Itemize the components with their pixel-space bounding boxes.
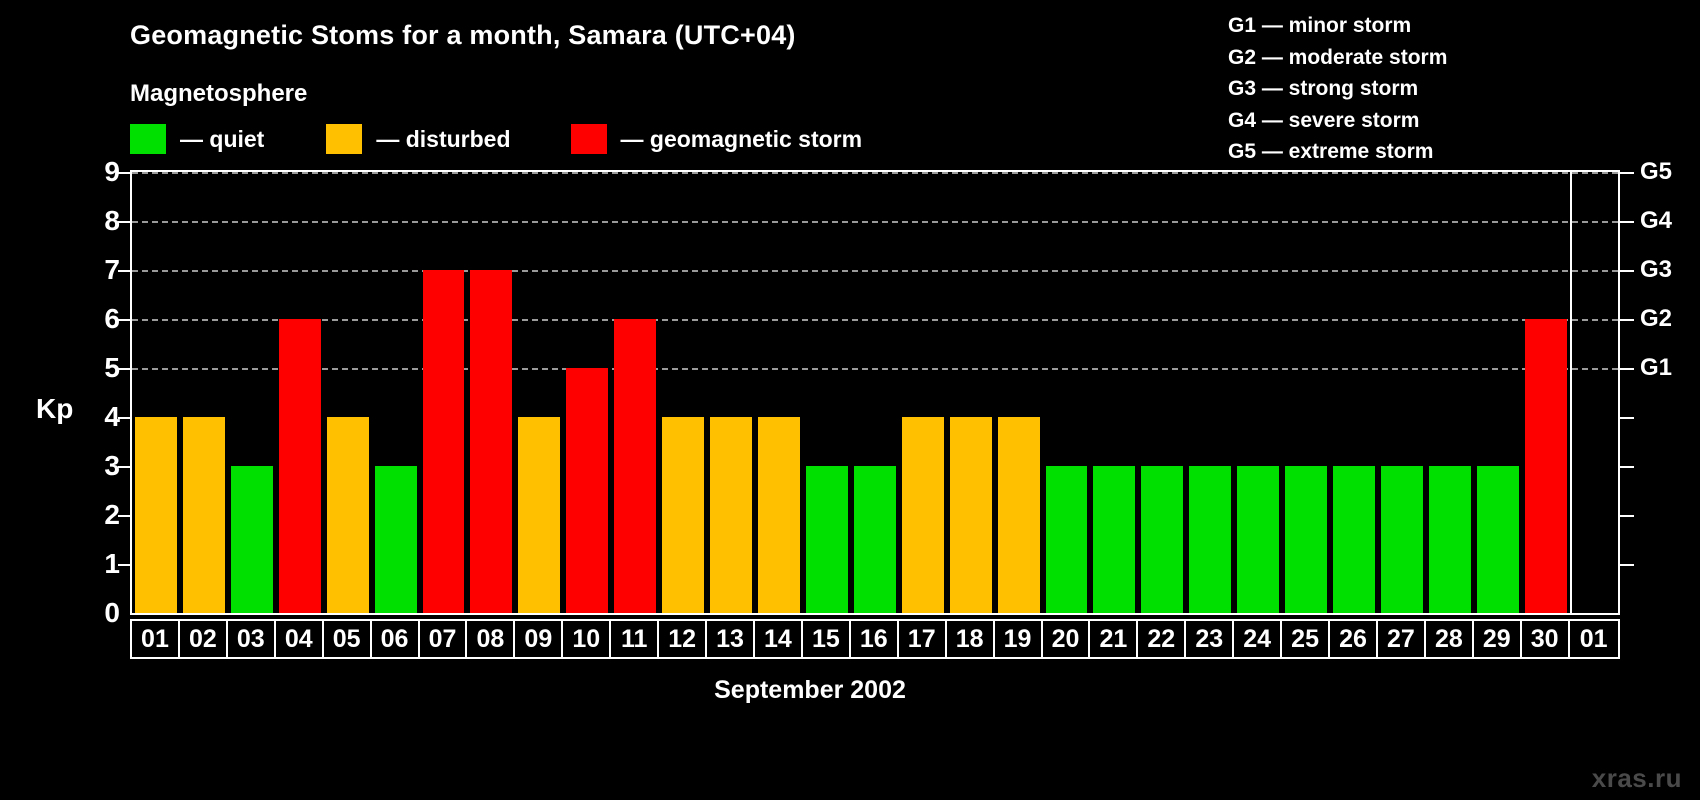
bar-cell-09[interactable]: [515, 172, 563, 613]
bar-cell-20[interactable]: [1043, 172, 1091, 613]
y-tick-label-6: 6: [60, 303, 120, 335]
g-tick-g3: [1620, 270, 1634, 272]
x-axis-day-24[interactable]: 25: [1282, 621, 1330, 657]
g-scale-row-g3: G3 — strong storm: [1228, 73, 1447, 105]
x-axis-day-7[interactable]: 08: [467, 621, 515, 657]
bar-13[interactable]: [710, 417, 752, 613]
bar-cell-06[interactable]: [372, 172, 420, 613]
plot-area: [130, 170, 1620, 615]
bar-cell-19[interactable]: [995, 172, 1043, 613]
y-tick-3: [118, 466, 130, 468]
g-scale-row-g1: G1 — minor storm: [1228, 10, 1447, 42]
bar-29[interactable]: [1477, 466, 1519, 613]
bar-cell-15[interactable]: [803, 172, 851, 613]
x-axis-day-2[interactable]: 03: [228, 621, 276, 657]
bar-14[interactable]: [758, 417, 800, 613]
bar-cell-17[interactable]: [899, 172, 947, 613]
y-tick-2: [118, 515, 130, 517]
x-axis-day-19[interactable]: 20: [1043, 621, 1091, 657]
y-tick-6: [118, 319, 130, 321]
y-tick-label-2: 2: [60, 499, 120, 531]
x-axis-day-27[interactable]: 28: [1426, 621, 1474, 657]
x-axis-day-4[interactable]: 05: [324, 621, 372, 657]
y-tick-label-0: 0: [60, 597, 120, 629]
bar-cell-27[interactable]: [1378, 172, 1426, 613]
legend-item-disturbed: — disturbed: [326, 124, 510, 154]
y-tick-9: [118, 172, 130, 174]
bar-cell-03[interactable]: [228, 172, 276, 613]
g-axis-minor-tick-1: [1620, 564, 1634, 566]
x-axis-day-10[interactable]: 11: [611, 621, 659, 657]
bar-28[interactable]: [1429, 466, 1471, 613]
y-tick-7: [118, 270, 130, 272]
legend: — quiet — disturbed — geomagnetic storm: [130, 124, 862, 154]
x-axis-day-25[interactable]: 26: [1330, 621, 1378, 657]
x-axis-day-26[interactable]: 27: [1378, 621, 1426, 657]
y-tick-label-9: 9: [60, 156, 120, 188]
bar-cell-28[interactable]: [1426, 172, 1474, 613]
bar-cell-04[interactable]: [276, 172, 324, 613]
legend-item-storm: — geomagnetic storm: [571, 124, 863, 154]
g-axis-minor-tick-2: [1620, 515, 1634, 517]
bar-cell-08[interactable]: [467, 172, 515, 613]
bar-series: [132, 172, 1618, 613]
bar-cell-10[interactable]: [563, 172, 611, 613]
g-axis-minor-tick-4: [1620, 417, 1634, 419]
bar-cell-26[interactable]: [1330, 172, 1378, 613]
bar-09[interactable]: [518, 417, 560, 613]
y-tick-5: [118, 368, 130, 370]
x-axis-day-1[interactable]: 02: [180, 621, 228, 657]
x-axis-day-17[interactable]: 18: [947, 621, 995, 657]
g-tick-g5: [1620, 172, 1634, 174]
x-axis-day-15[interactable]: 16: [851, 621, 899, 657]
bar-cell-30[interactable]: [1522, 172, 1570, 613]
x-axis-day-5[interactable]: 06: [372, 621, 420, 657]
legend-label-quiet: — quiet: [180, 126, 264, 153]
legend-label-disturbed: — disturbed: [376, 126, 510, 153]
g-tick-g1: [1620, 368, 1634, 370]
g-scale-row-g2: G2 — moderate storm: [1228, 42, 1447, 74]
g-scale-row-g5: G5 — extreme storm: [1228, 136, 1447, 168]
bar-12[interactable]: [662, 417, 704, 613]
bar-19[interactable]: [998, 417, 1040, 613]
bar-05[interactable]: [327, 417, 369, 613]
x-axis-title: September 2002: [0, 676, 1620, 705]
magnetosphere-heading: Magnetosphere: [130, 80, 307, 108]
bar-cell-23[interactable]: [1186, 172, 1234, 613]
x-axis-day-29[interactable]: 30: [1522, 621, 1570, 657]
bar-23[interactable]: [1189, 466, 1231, 613]
bar-cell-29[interactable]: [1474, 172, 1522, 613]
x-axis-day-18[interactable]: 19: [995, 621, 1043, 657]
bar-cell-14[interactable]: [755, 172, 803, 613]
x-axis-day-16[interactable]: 17: [899, 621, 947, 657]
bar-cell-18[interactable]: [947, 172, 995, 613]
bar-cell-25[interactable]: [1282, 172, 1330, 613]
x-axis-day-11[interactable]: 12: [659, 621, 707, 657]
bar-15[interactable]: [806, 466, 848, 613]
bar-07[interactable]: [423, 270, 465, 613]
watermark: xras.ru: [1592, 763, 1682, 794]
plot-inner: [132, 172, 1618, 613]
bar-cell-22[interactable]: [1138, 172, 1186, 613]
x-axis-day-0[interactable]: 01: [132, 621, 180, 657]
y-tick-1: [118, 564, 130, 566]
y-tick-label-8: 8: [60, 205, 120, 237]
legend-swatch-storm: [571, 124, 607, 154]
chart-page: Geomagnetic Stoms for a month, Samara (U…: [0, 0, 1700, 800]
bar-25[interactable]: [1285, 466, 1327, 613]
bar-11[interactable]: [614, 319, 656, 613]
g-tick-label-g5: G5: [1640, 158, 1672, 186]
x-axis-day-8[interactable]: 09: [515, 621, 563, 657]
g-tick-label-g4: G4: [1640, 207, 1672, 235]
x-axis-day-6[interactable]: 07: [420, 621, 468, 657]
y-tick-8: [118, 221, 130, 223]
y-tick-label-4: 4: [60, 401, 120, 433]
bar-cell-12[interactable]: [659, 172, 707, 613]
y-tick-4: [118, 417, 130, 419]
x-axis-day-12[interactable]: 13: [707, 621, 755, 657]
month-end-divider: [1570, 172, 1572, 613]
legend-label-storm: — geomagnetic storm: [621, 126, 863, 153]
g-tick-label-g3: G3: [1640, 256, 1672, 284]
x-axis-day-14[interactable]: 15: [803, 621, 851, 657]
x-axis-day-labels: 0102030405060708091011121314151617181920…: [130, 619, 1620, 659]
bar-cell-02[interactable]: [180, 172, 228, 613]
bar-03[interactable]: [231, 466, 273, 613]
g-axis-minor-tick-3: [1620, 466, 1634, 468]
bar-cell-16[interactable]: [851, 172, 899, 613]
g-tick-label-g1: G1: [1640, 354, 1672, 382]
g-scale-legend: G1 — minor storm G2 — moderate storm G3 …: [1228, 10, 1447, 168]
x-axis-day-30[interactable]: 01: [1570, 621, 1618, 657]
bar-21[interactable]: [1093, 466, 1135, 613]
y-tick-label-7: 7: [60, 254, 120, 286]
x-axis-day-3[interactable]: 04: [276, 621, 324, 657]
bar-02[interactable]: [183, 417, 225, 613]
x-axis-day-28[interactable]: 29: [1474, 621, 1522, 657]
y-tick-label-1: 1: [60, 548, 120, 580]
y-tick-label-5: 5: [60, 352, 120, 384]
bar-cell-07[interactable]: [420, 172, 468, 613]
page-title: Geomagnetic Stoms for a month, Samara (U…: [130, 20, 796, 51]
bar-17[interactable]: [902, 417, 944, 613]
bar-16[interactable]: [854, 466, 896, 613]
x-axis-day-22[interactable]: 23: [1186, 621, 1234, 657]
bar-cell-05[interactable]: [324, 172, 372, 613]
bar-cell-11[interactable]: [611, 172, 659, 613]
bar-01[interactable]: [135, 417, 177, 613]
bar-cell-13[interactable]: [707, 172, 755, 613]
y-tick-label-3: 3: [60, 450, 120, 482]
bar-27[interactable]: [1381, 466, 1423, 613]
x-axis-day-13[interactable]: 14: [755, 621, 803, 657]
legend-swatch-quiet: [130, 124, 166, 154]
legend-item-quiet: — quiet: [130, 124, 264, 154]
x-axis-day-20[interactable]: 21: [1090, 621, 1138, 657]
g-scale-row-g4: G4 — severe storm: [1228, 105, 1447, 137]
x-axis-day-23[interactable]: 24: [1234, 621, 1282, 657]
bar-24[interactable]: [1237, 466, 1279, 613]
bar-cell-01[interactable]: [132, 172, 180, 613]
bar-cell-21[interactable]: [1090, 172, 1138, 613]
bar-06[interactable]: [375, 466, 417, 613]
bar-26[interactable]: [1333, 466, 1375, 613]
x-axis-day-9[interactable]: 10: [563, 621, 611, 657]
bar-cell-01[interactable]: [1570, 172, 1618, 613]
g-tick-g2: [1620, 319, 1634, 321]
g-tick-g4: [1620, 221, 1634, 223]
bar-18[interactable]: [950, 417, 992, 613]
bar-22[interactable]: [1141, 466, 1183, 613]
bar-cell-24[interactable]: [1234, 172, 1282, 613]
bar-10[interactable]: [566, 368, 608, 613]
g-tick-label-g2: G2: [1640, 305, 1672, 333]
bar-04[interactable]: [279, 319, 321, 613]
bar-08[interactable]: [470, 270, 512, 613]
legend-swatch-disturbed: [326, 124, 362, 154]
x-axis-day-21[interactable]: 22: [1138, 621, 1186, 657]
bar-20[interactable]: [1046, 466, 1088, 613]
bar-30[interactable]: [1525, 319, 1567, 613]
